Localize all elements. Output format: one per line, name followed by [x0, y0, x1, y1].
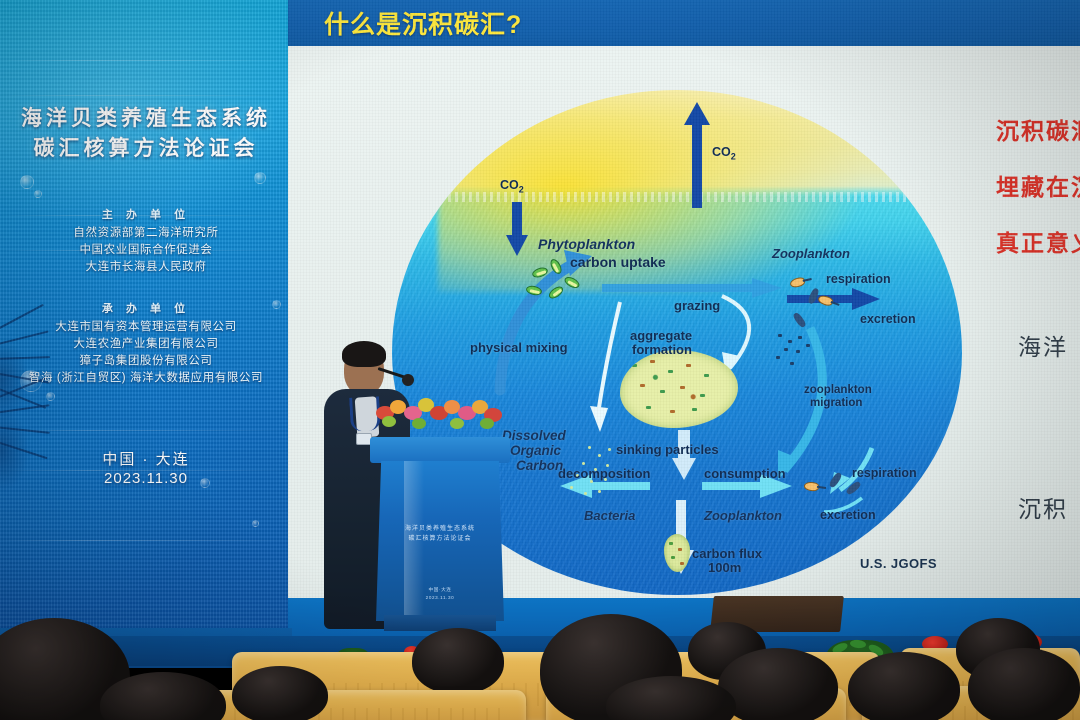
slide-title: 什么是沉积碳汇?: [324, 5, 522, 41]
label-zooplankton-migration-1: zooplankton: [804, 384, 872, 396]
banner-host-heading: 承 办 单 位: [0, 300, 292, 316]
bubble-decor: [34, 190, 42, 198]
bubble-decor: [254, 172, 266, 184]
banner-host-2: 大连农渔产业集团有限公司: [0, 335, 292, 351]
audience-head-foreground: [232, 666, 328, 720]
audience-head-foreground: [848, 652, 960, 720]
label-organic: Organic: [510, 443, 561, 458]
label-zooplankton-bottom: Zooplankton: [704, 508, 782, 523]
banner-place: 中国 · 大连: [0, 448, 292, 469]
slide-red-line-3: 真正意义: [996, 224, 1080, 258]
podium: 海洋贝类养殖生态系统 碳汇核算方法论证会 中国·大连 2023.11.30: [370, 415, 510, 630]
label-excretion-bottom: excretion: [820, 508, 876, 522]
led-banner: 海洋贝类养殖生态系统 碳汇核算方法论证会 主 办 单 位 自然资源部第二海洋研究…: [0, 0, 292, 630]
banner-organizer-3: 大连市长海县人民政府: [0, 258, 292, 274]
label-bacteria: Bacteria: [584, 508, 635, 523]
banner-date: 2023.11.30: [0, 470, 292, 487]
podium-flower-arrangement: [372, 392, 512, 428]
screenshot-root: 海洋贝类养殖生态系统 碳汇核算方法论证会 主 办 单 位 自然资源部第二海洋研究…: [0, 0, 1080, 720]
slide-dark-line-2: 沉积: [1018, 490, 1068, 524]
slide-red-line-2: 埋藏在沉: [996, 168, 1080, 202]
label-co2-upward: CO2: [712, 145, 736, 162]
label-aggregate: aggregate: [630, 328, 692, 343]
audience-head-foreground: [968, 648, 1080, 720]
banner-organizer-heading: 主 办 单 位: [0, 206, 292, 222]
label-physical-mixing: physical mixing: [470, 340, 568, 355]
podium-base: [384, 615, 496, 631]
slide-dark-line-1: 海洋: [1018, 328, 1068, 362]
label-phytoplankton: Phytoplankton: [538, 236, 635, 252]
podium-title-line1: 海洋贝类养殖生态系统: [376, 523, 504, 532]
slide-title-bar: 什么是沉积碳汇?: [288, 0, 1080, 46]
label-sinking-particles: sinking particles: [616, 442, 719, 457]
podium-title-line2: 碳汇核算方法论证会: [376, 533, 504, 542]
diagram-credit: U.S. JGOFS: [860, 556, 937, 571]
bubble-decor: [252, 520, 259, 527]
audience-head: [412, 628, 504, 694]
microphone-head: [402, 374, 414, 386]
label-carbon-flux: carbon flux: [692, 546, 762, 561]
podium-place: 中国·大连: [376, 587, 504, 593]
label-grazing: grazing: [674, 298, 720, 313]
label-carbon: Carbon: [516, 458, 563, 473]
label-zooplankton-top: Zooplankton: [772, 246, 850, 261]
label-co2-downward: CO2: [500, 178, 524, 195]
podium-date: 2023.11.30: [376, 595, 504, 600]
label-zooplankton-migration-2: migration: [810, 397, 862, 409]
slide-red-line-1: 沉积碳汇: [996, 112, 1080, 146]
speaker-hair: [342, 341, 386, 367]
label-excretion-top: excretion: [860, 312, 916, 326]
banner-host-3: 獐子岛集团股份有限公司: [0, 352, 292, 368]
banner-organizer-2: 中国农业国际合作促进会: [0, 241, 292, 257]
label-consumption: consumption: [704, 466, 786, 481]
label-respiration-top: respiration: [826, 272, 891, 286]
banner-title-line1: 海洋贝类养殖生态系统: [0, 102, 292, 132]
label-respiration-bottom: respiration: [852, 466, 917, 480]
banner-host-1: 大连市国有资本管理运营有限公司: [0, 318, 292, 334]
label-carbon-flux-depth: 100m: [708, 560, 741, 575]
podium-top: [370, 437, 510, 463]
bubble-decor: [20, 175, 34, 189]
label-formation: formation: [632, 342, 692, 357]
audience-head-foreground: [718, 648, 838, 720]
label-decomposition: decomposition: [558, 466, 650, 481]
banner-host-4: 智海 (浙江自贸区) 海洋大数据应用有限公司: [0, 369, 292, 385]
banner-organizer-1: 自然资源部第二海洋研究所: [0, 224, 292, 240]
banner-title-line2: 碳汇核算方法论证会: [0, 132, 292, 162]
label-dissolved: Dissolved: [502, 428, 566, 443]
label-carbon-uptake: carbon uptake: [570, 254, 666, 270]
